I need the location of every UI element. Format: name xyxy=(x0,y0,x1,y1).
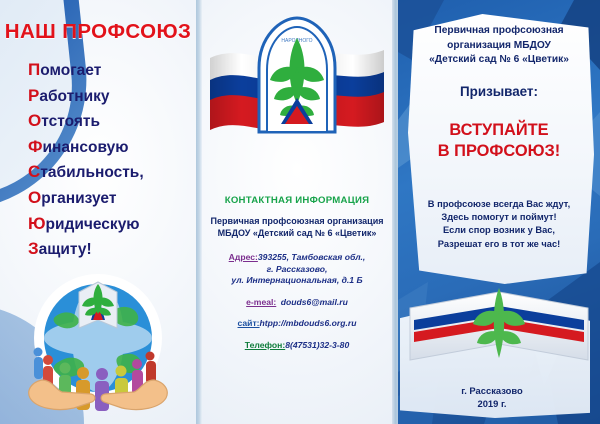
acrostic-capital: С xyxy=(28,162,40,181)
open-book-sprout-icon xyxy=(406,286,592,378)
acrostic-capital: З xyxy=(28,239,39,258)
year-label: 2019 г. xyxy=(402,397,582,410)
acrostic-rest: тстоять xyxy=(41,113,100,130)
acrostic-line: Юридическую xyxy=(28,212,196,238)
contact-row-phone: Телефон:8(47531)32-3-80 xyxy=(200,338,394,352)
acrostic-line: Финансовую xyxy=(28,135,196,161)
join-slogan-line2: В ПРОФСОЮЗ! xyxy=(404,141,594,162)
brochure-page: НАШ ПРОФСОЮЗ Помогает Работнику Отстоять… xyxy=(0,0,600,424)
contact-details-list: Адрес:393255, Тамбовская обл., г. Расска… xyxy=(200,250,394,360)
contact-section-heading: КОНТАКТНАЯ ИНФОРМАЦИЯ xyxy=(196,195,398,206)
city-and-year: г. Рассказово 2019 г. xyxy=(402,384,582,410)
left-panel: НАШ ПРОФСОЮЗ Помогает Работнику Отстоять… xyxy=(0,0,196,424)
right-heading-line1: Первичная профсоюзная xyxy=(404,24,594,39)
join-slogan: ВСТУПАЙТЕ В ПРОФСОЮЗ! xyxy=(404,120,594,162)
union-emblem-icon: НАРОДНОГО xyxy=(251,12,343,138)
join-slogan-line1: ВСТУПАЙТЕ xyxy=(404,120,594,141)
acrostic-capital: О xyxy=(28,188,41,207)
acrostic-capital: Р xyxy=(28,86,39,105)
address-value: 393255, Тамбовская обл., xyxy=(258,252,365,262)
acrostic-rest: ащиту! xyxy=(39,241,92,258)
address-line2: г. Рассказово, xyxy=(200,264,394,276)
verse-line: В профсоюзе всегда Вас ждут, xyxy=(402,198,596,211)
acrostic-capital: Ф xyxy=(28,137,43,156)
verse-line: Здесь помогут и поймут! xyxy=(402,211,596,224)
right-heading-line2: организация МБДОУ xyxy=(404,39,594,54)
middle-panel: НАРОДНОГО КОНТАКТНАЯ ИНФОРМАЦИЯ Первична… xyxy=(196,0,398,424)
website-label: сайт: xyxy=(238,318,260,328)
verse-line: Если спор возник у Вас, xyxy=(402,224,596,237)
acrostic-line: Работнику xyxy=(28,84,196,110)
acrostic-line: Организует xyxy=(28,186,196,212)
contact-row-address: Адрес:393255, Тамбовская обл., г. Расска… xyxy=(200,250,394,287)
brochure-title: НАШ ПРОФСОЮЗ xyxy=(0,20,196,44)
acrostic-rest: ридическую xyxy=(46,216,140,233)
phone-value: 8(47531)32-3-80 xyxy=(285,340,349,350)
acrostic-rest: инансовую xyxy=(43,139,129,156)
contact-row-email[interactable]: e-meal: douds6@mail.ru xyxy=(200,295,394,309)
acrostic-capital: О xyxy=(28,111,41,130)
acrostic-line: Отстоять xyxy=(28,109,196,135)
acrostic-line: Стабильность, xyxy=(28,160,196,186)
acrostic-line: Помогает xyxy=(28,58,196,84)
acrostic-rest: аботнику xyxy=(39,88,109,105)
email-label: e-meal: xyxy=(246,297,276,307)
city-label: г. Рассказово xyxy=(402,384,582,397)
acrostic-rest: рганизует xyxy=(41,190,116,207)
acrostic-capital: Ю xyxy=(28,214,46,233)
address-line3: ул. Интернациональная, д.1 Б xyxy=(200,275,394,287)
right-heading-line3: «Детский сад № 6 «Цветик» xyxy=(404,53,594,68)
contact-row-website[interactable]: сайт:htpp://mbdouds6.org.ru xyxy=(200,316,394,330)
acrostic-capital: П xyxy=(28,60,40,79)
website-value[interactable]: htpp://mbdouds6.org.ru xyxy=(260,318,357,328)
right-panel: Первичная профсоюзная организация МБДОУ … xyxy=(398,0,600,424)
acrostic-rest: табильность, xyxy=(40,164,143,181)
organization-name: Первичная профсоюзная организация МБДОУ … xyxy=(200,215,394,240)
acrostic-rest: омогает xyxy=(40,62,101,79)
acrostic-line: Защиту! xyxy=(28,237,196,263)
panel-fold-left xyxy=(196,0,202,424)
email-value[interactable]: douds6@mail.ru xyxy=(281,297,348,307)
right-panel-heading: Первичная профсоюзная организация МБДОУ … xyxy=(404,24,594,68)
address-label: Адрес: xyxy=(229,252,258,262)
verse-block: В профсоюзе всегда Вас ждут, Здесь помог… xyxy=(402,198,596,251)
organization-name-line1: Первичная профсоюзная организация xyxy=(200,215,394,227)
globe-in-hands-icon xyxy=(22,268,174,414)
organization-name-line2: МБДОУ «Детский сад № 6 «Цветик» xyxy=(200,227,394,239)
acrostic-list: Помогает Работнику Отстоять Финансовую С… xyxy=(28,58,196,263)
call-to-action-label: Призывает: xyxy=(404,84,594,99)
phone-label: Телефон: xyxy=(245,340,285,350)
verse-line: Разрешат его в тот же час! xyxy=(402,238,596,251)
